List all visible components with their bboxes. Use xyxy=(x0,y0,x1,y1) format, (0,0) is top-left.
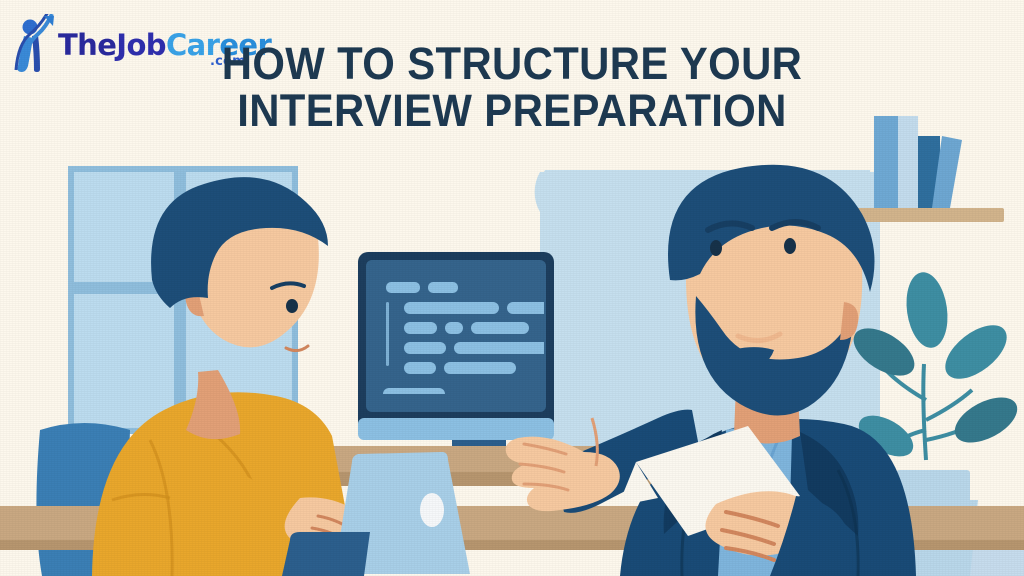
laptop-base xyxy=(282,532,370,576)
title-line-2: INTERVIEW PREPARATION xyxy=(36,87,988,134)
laptop-logo xyxy=(420,493,444,527)
shelf-board xyxy=(856,208,1004,222)
title-line-1: HOW TO STRUCTURE YOUR xyxy=(222,38,803,89)
monitor-chin xyxy=(358,418,554,440)
candidate-eye xyxy=(286,299,298,313)
interviewer-eye-right xyxy=(784,238,796,254)
page-title: HOW TO STRUCTURE YOUR INTERVIEW PREPARAT… xyxy=(36,40,988,134)
interviewer-eye-left xyxy=(710,240,722,256)
illustration-banner: TheJobCareer .com HOW TO STRUCTURE YOUR … xyxy=(0,0,1024,576)
